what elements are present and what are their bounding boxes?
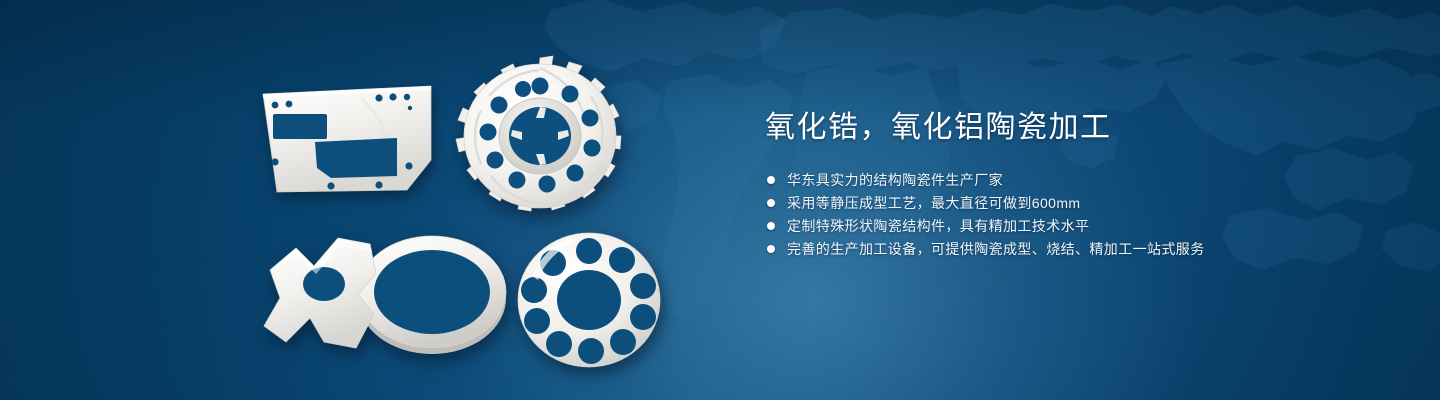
ceramic-cross-and-ring-part (252, 222, 517, 367)
list-item: 定制特殊形状陶瓷结构件，具有精加工技术水平 (765, 218, 1365, 234)
hero-banner: 氧化锆，氧化铝陶瓷加工 华东具实力的结构陶瓷件生产厂家 采用等静压成型工艺，最大… (0, 0, 1440, 400)
bullet-dot-icon (767, 245, 775, 253)
ceramic-plate-part (255, 80, 440, 200)
list-item-label: 完善的生产加工设备，可提供陶瓷成型、烧结、精加工一站式服务 (787, 241, 1205, 257)
list-item: 华东具实力的结构陶瓷件生产厂家 (765, 172, 1365, 188)
ceramic-perforated-disc-part (512, 228, 667, 373)
list-item: 完善的生产加工设备，可提供陶瓷成型、烧结、精加工一站式服务 (765, 241, 1365, 257)
banner-copy: 氧化锆，氧化铝陶瓷加工 华东具实力的结构陶瓷件生产厂家 采用等静压成型工艺，最大… (765, 108, 1365, 257)
list-item-label: 采用等静压成型工艺，最大直径可做到600mm (787, 195, 1080, 211)
feature-list: 华东具实力的结构陶瓷件生产厂家 采用等静压成型工艺，最大直径可做到600mm 定… (765, 172, 1365, 257)
ceramic-impeller-part (445, 52, 635, 217)
list-item-label: 定制特殊形状陶瓷结构件，具有精加工技术水平 (787, 218, 1089, 234)
bullet-dot-icon (767, 222, 775, 230)
bullet-dot-icon (767, 176, 775, 184)
product-photo-group (0, 0, 720, 400)
bullet-dot-icon (767, 199, 775, 207)
list-item: 采用等静压成型工艺，最大直径可做到600mm (765, 195, 1365, 211)
list-item-label: 华东具实力的结构陶瓷件生产厂家 (787, 172, 1003, 188)
page-title: 氧化锆，氧化铝陶瓷加工 (765, 108, 1365, 148)
